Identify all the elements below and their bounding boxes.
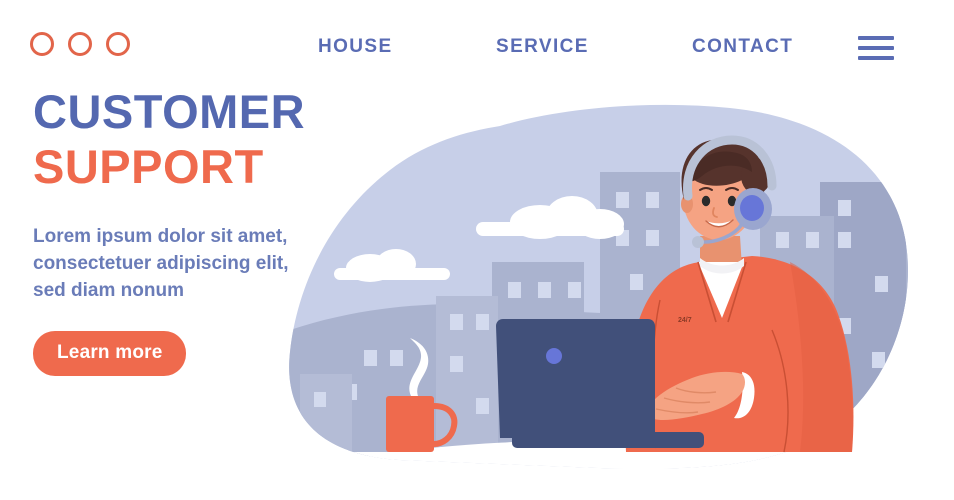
window	[630, 274, 643, 290]
nav-link-house[interactable]: HOUSE	[318, 36, 393, 58]
hamburger-bar	[858, 36, 894, 40]
page-title-line-2: SUPPORT	[33, 143, 353, 192]
hamburger-bar	[858, 56, 894, 60]
window	[568, 282, 581, 298]
window	[875, 276, 888, 292]
window	[776, 232, 789, 248]
window	[646, 192, 659, 208]
window	[838, 200, 851, 216]
window	[646, 230, 659, 246]
mug-body	[386, 396, 434, 452]
building	[300, 374, 352, 454]
window	[364, 350, 377, 366]
eye-left	[702, 196, 710, 206]
laptop-base	[512, 432, 704, 448]
nav-link-service[interactable]: SERVICE	[496, 36, 589, 58]
brand-logo[interactable]	[30, 32, 130, 56]
hamburger-bar	[858, 46, 894, 50]
window	[476, 398, 489, 414]
laptop-logo-icon	[546, 348, 562, 364]
headset-mic-tip	[692, 236, 704, 248]
hero-subtext: Lorem ipsum dolor sit amet, consectetuer…	[33, 224, 295, 305]
window	[450, 314, 463, 330]
learn-more-button[interactable]: Learn more	[33, 331, 186, 376]
hero-copy-block: CUSTOMER SUPPORT Lorem ipsum dolor sit a…	[33, 88, 353, 376]
page-title-line-1: CUSTOMER	[33, 88, 353, 137]
hero-page: 24/7 HOUSE SERVICE CONT	[0, 0, 954, 500]
window	[390, 350, 403, 366]
laptop-lid	[496, 319, 655, 438]
badge-text: 24/7	[678, 317, 692, 324]
window	[450, 356, 463, 372]
headset-ear-cup-inner	[740, 195, 764, 221]
logo-circle-icon	[106, 32, 130, 56]
window	[616, 192, 629, 208]
logo-circle-icon	[68, 32, 92, 56]
window	[314, 392, 326, 407]
hamburger-menu-icon[interactable]	[858, 36, 894, 60]
window	[806, 232, 819, 248]
site-header: HOUSE SERVICE CONTACT	[0, 0, 954, 92]
logo-circle-icon	[30, 32, 54, 56]
nav-link-contact[interactable]: CONTACT	[692, 36, 793, 58]
window	[872, 352, 885, 368]
window	[508, 282, 521, 298]
window	[538, 282, 551, 298]
window	[476, 314, 489, 330]
window	[838, 232, 851, 248]
